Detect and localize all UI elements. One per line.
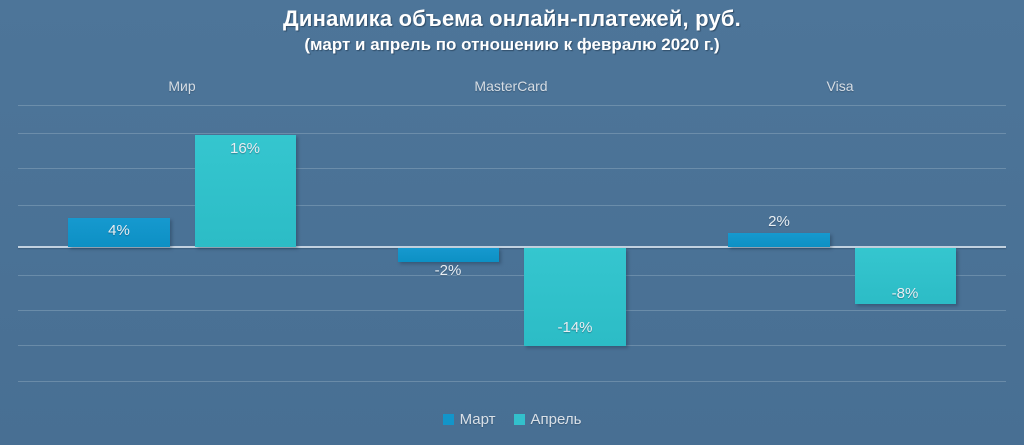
legend-label-april: Апрель [531,411,582,428]
chart-subtitle: (март и апрель по отношению к февралю 20… [0,33,1024,57]
chart-container: Динамика объема онлайн-платежей, руб. (м… [0,0,1024,445]
gridline-12 [18,133,1006,134]
gridline-minus8 [18,310,1006,311]
legend-label-march: Март [460,411,496,428]
bar-mastercard-march[interactable] [398,248,499,262]
chart-legend: Март Апрель [0,411,1024,428]
gridline-4 [18,205,1006,206]
gridline-minus12 [18,345,1006,346]
bar-visa-march[interactable] [728,233,830,247]
page-title: Динамика объема онлайн-платежей, руб. [0,6,1024,32]
bar-value-mir-march: 4% [108,222,130,239]
legend-swatch-icon-april [514,414,525,425]
plot-area: 4% 16% -2% -14% 2% -8% [18,105,1006,390]
legend-swatch-icon-march [443,414,454,425]
category-label-mir: Мир [168,78,195,94]
chart-title-block: Динамика объема онлайн-платежей, руб. (м… [0,6,1024,57]
legend-item-april[interactable]: Апрель [514,411,582,428]
gridline-8 [18,168,1006,169]
bar-value-visa-march: 2% [768,213,790,230]
gridline-16 [18,105,1006,106]
bar-value-visa-april: -8% [892,285,919,302]
legend-item-march[interactable]: Март [443,411,496,428]
category-label-mastercard: MasterCard [474,78,547,94]
bar-value-mir-april: 16% [230,140,260,157]
gridline-minus16 [18,381,1006,382]
bar-value-mastercard-march: -2% [435,262,462,279]
bar-value-mastercard-april: -14% [557,319,592,336]
category-label-visa: Visa [827,78,854,94]
